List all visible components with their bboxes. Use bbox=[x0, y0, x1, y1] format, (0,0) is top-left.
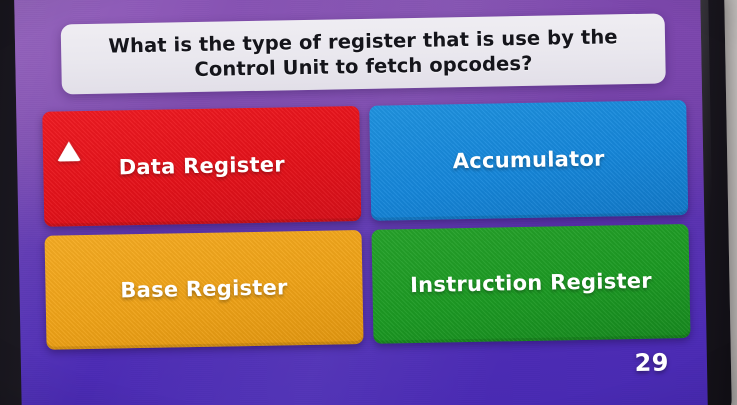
answer-counter: 29 bbox=[634, 348, 669, 377]
square-icon bbox=[386, 240, 408, 262]
answer-label-accumulator: Accumulator bbox=[437, 146, 621, 175]
answer-option-accumulator[interactable]: Accumulator bbox=[369, 100, 688, 220]
answer-label-instruction-register: Instruction Register bbox=[394, 269, 668, 299]
circle-icon bbox=[59, 246, 81, 268]
answer-option-instruction-register[interactable]: Instruction Register bbox=[371, 224, 690, 344]
answer-option-data-register[interactable]: Data Register bbox=[42, 106, 361, 226]
triangle-icon bbox=[56, 122, 78, 144]
answer-label-data-register: Data Register bbox=[102, 152, 301, 181]
phone-photo-screenshot: What is the type of register that is use… bbox=[0, 0, 737, 405]
phone-screen: What is the type of register that is use… bbox=[14, 0, 708, 405]
question-text: What is the type of register that is use… bbox=[61, 23, 666, 85]
answer-label-base-register: Base Register bbox=[104, 275, 304, 304]
question-card: What is the type of register that is use… bbox=[61, 13, 666, 94]
diamond-icon bbox=[383, 116, 405, 138]
answer-option-base-register[interactable]: Base Register bbox=[45, 229, 364, 349]
answer-options-grid: Data Register Accumulator Base Register … bbox=[42, 100, 690, 350]
